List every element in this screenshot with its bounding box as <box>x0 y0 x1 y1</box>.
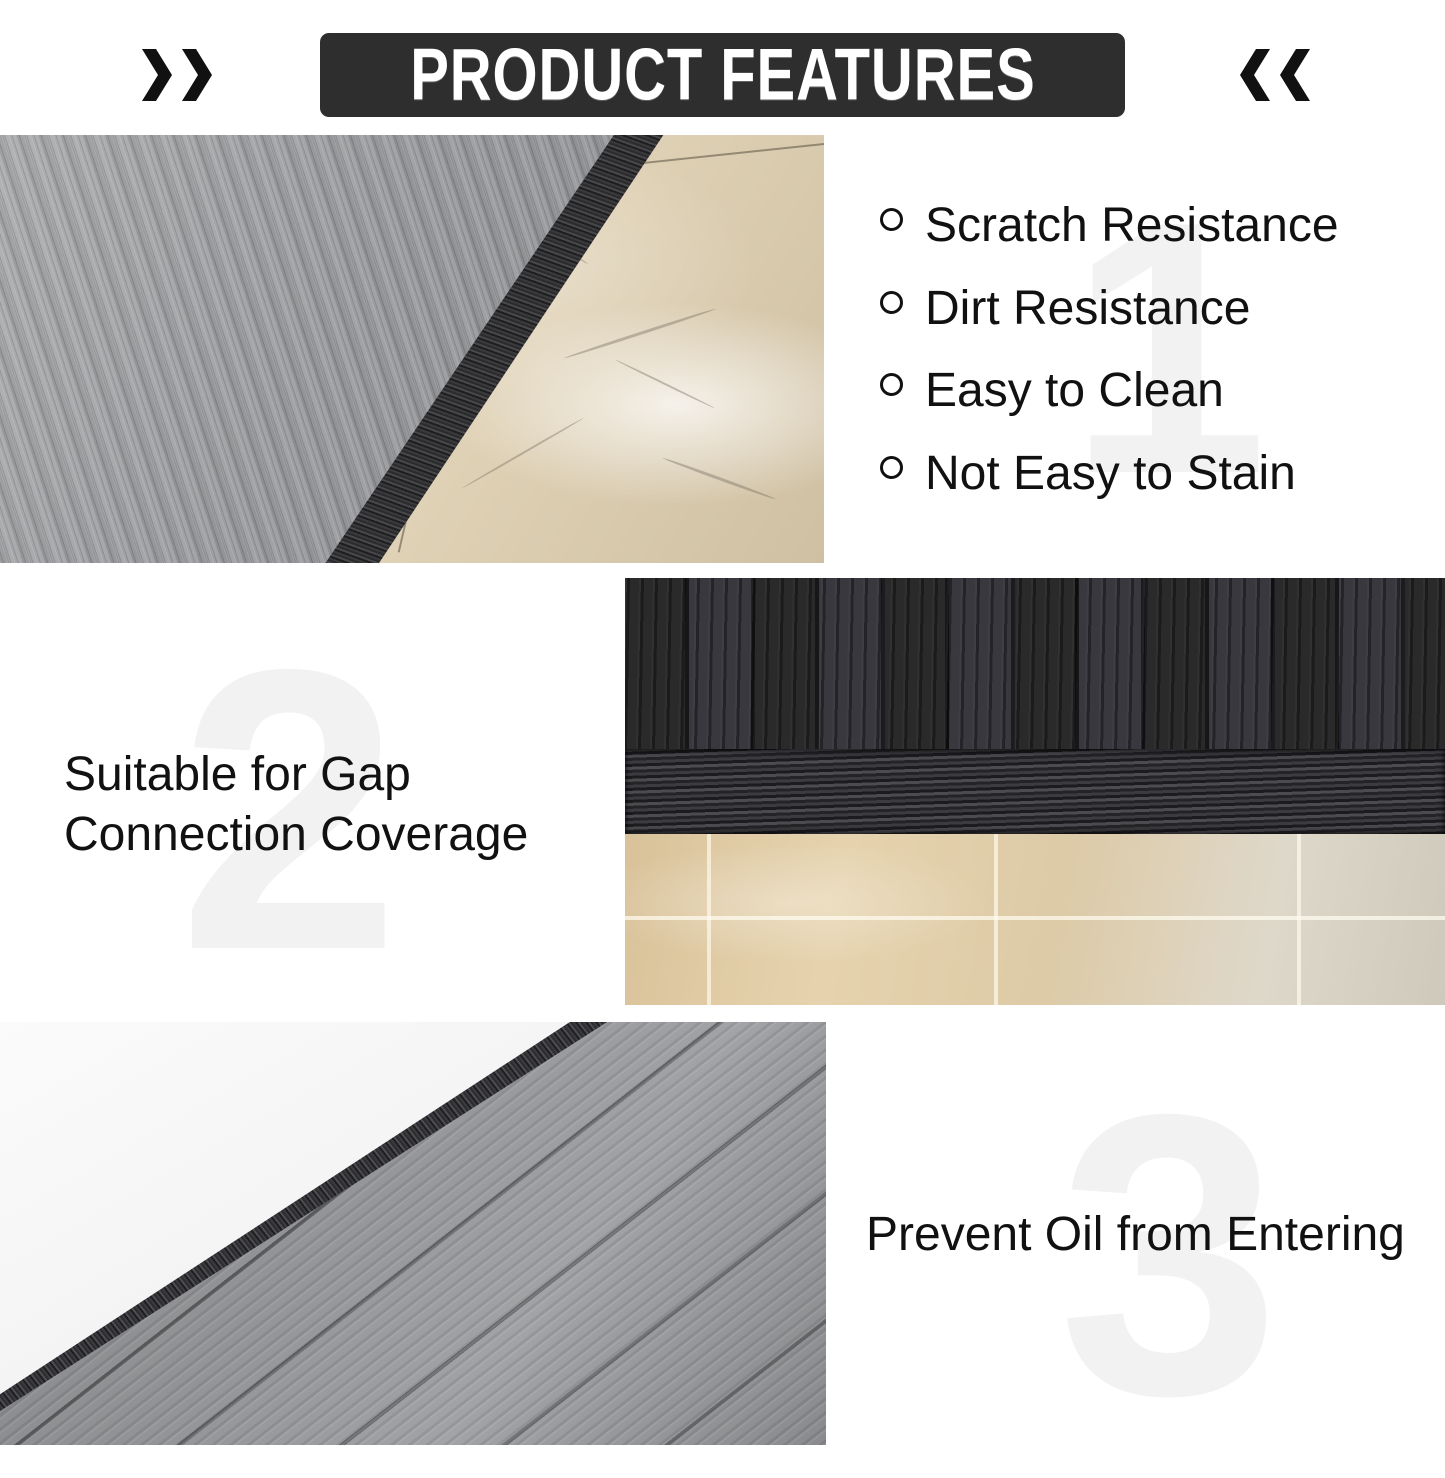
feature-list: Scratch Resistance Dirt Resistance Easy … <box>880 198 1420 529</box>
tile-grout-line <box>707 834 711 1005</box>
chevron-left-icon <box>1278 47 1312 103</box>
tile-grout-line <box>994 834 998 1005</box>
chevron-right-icon <box>180 47 214 103</box>
list-item: Scratch Resistance <box>880 198 1420 255</box>
tile-grout-line <box>625 916 1445 920</box>
list-item-label: Scratch Resistance <box>925 198 1339 255</box>
bullet-circle-icon <box>880 291 903 314</box>
travertine-tile-surface <box>625 834 1445 1005</box>
caption-line: Suitable for Gap <box>64 745 584 805</box>
product-photo-white-to-gray-plank <box>0 1022 826 1445</box>
transition-strip <box>625 749 1445 834</box>
double-chevron-right-icon <box>140 44 214 106</box>
list-item-label: Not Easy to Stain <box>925 446 1296 503</box>
page-title-banner: PRODUCT FEATURES <box>320 33 1125 117</box>
dark-wood-plank-surface <box>625 578 1445 749</box>
bullet-circle-icon <box>880 456 903 479</box>
caption-line: Prevent Oil from Entering <box>866 1205 1426 1265</box>
marble-vein <box>564 307 717 359</box>
page-title: PRODUCT FEATURES <box>410 38 1035 111</box>
marble-vein <box>462 417 584 489</box>
list-item-label: Dirt Resistance <box>925 281 1250 338</box>
header: PRODUCT FEATURES <box>0 0 1445 133</box>
section-caption: Prevent Oil from Entering <box>866 1205 1426 1265</box>
list-item: Dirt Resistance <box>880 281 1420 338</box>
double-chevron-left-icon <box>1238 44 1312 106</box>
marble-vein <box>615 359 715 409</box>
bullet-circle-icon <box>880 208 903 231</box>
section-caption: Suitable for Gap Connection Coverage <box>64 745 584 866</box>
chevron-right-icon <box>140 47 174 103</box>
product-photo-dark-plank-to-travertine <box>625 578 1445 1005</box>
bullet-circle-icon <box>880 373 903 396</box>
list-item: Not Easy to Stain <box>880 446 1420 503</box>
chevron-left-icon <box>1238 47 1272 103</box>
marble-vein <box>662 457 776 501</box>
caption-line: Connection Coverage <box>64 805 584 865</box>
tile-grout-line <box>1297 834 1301 1005</box>
list-item-label: Easy to Clean <box>925 363 1224 420</box>
list-item: Easy to Clean <box>880 363 1420 420</box>
product-photo-gray-wood-to-marble <box>0 135 824 563</box>
